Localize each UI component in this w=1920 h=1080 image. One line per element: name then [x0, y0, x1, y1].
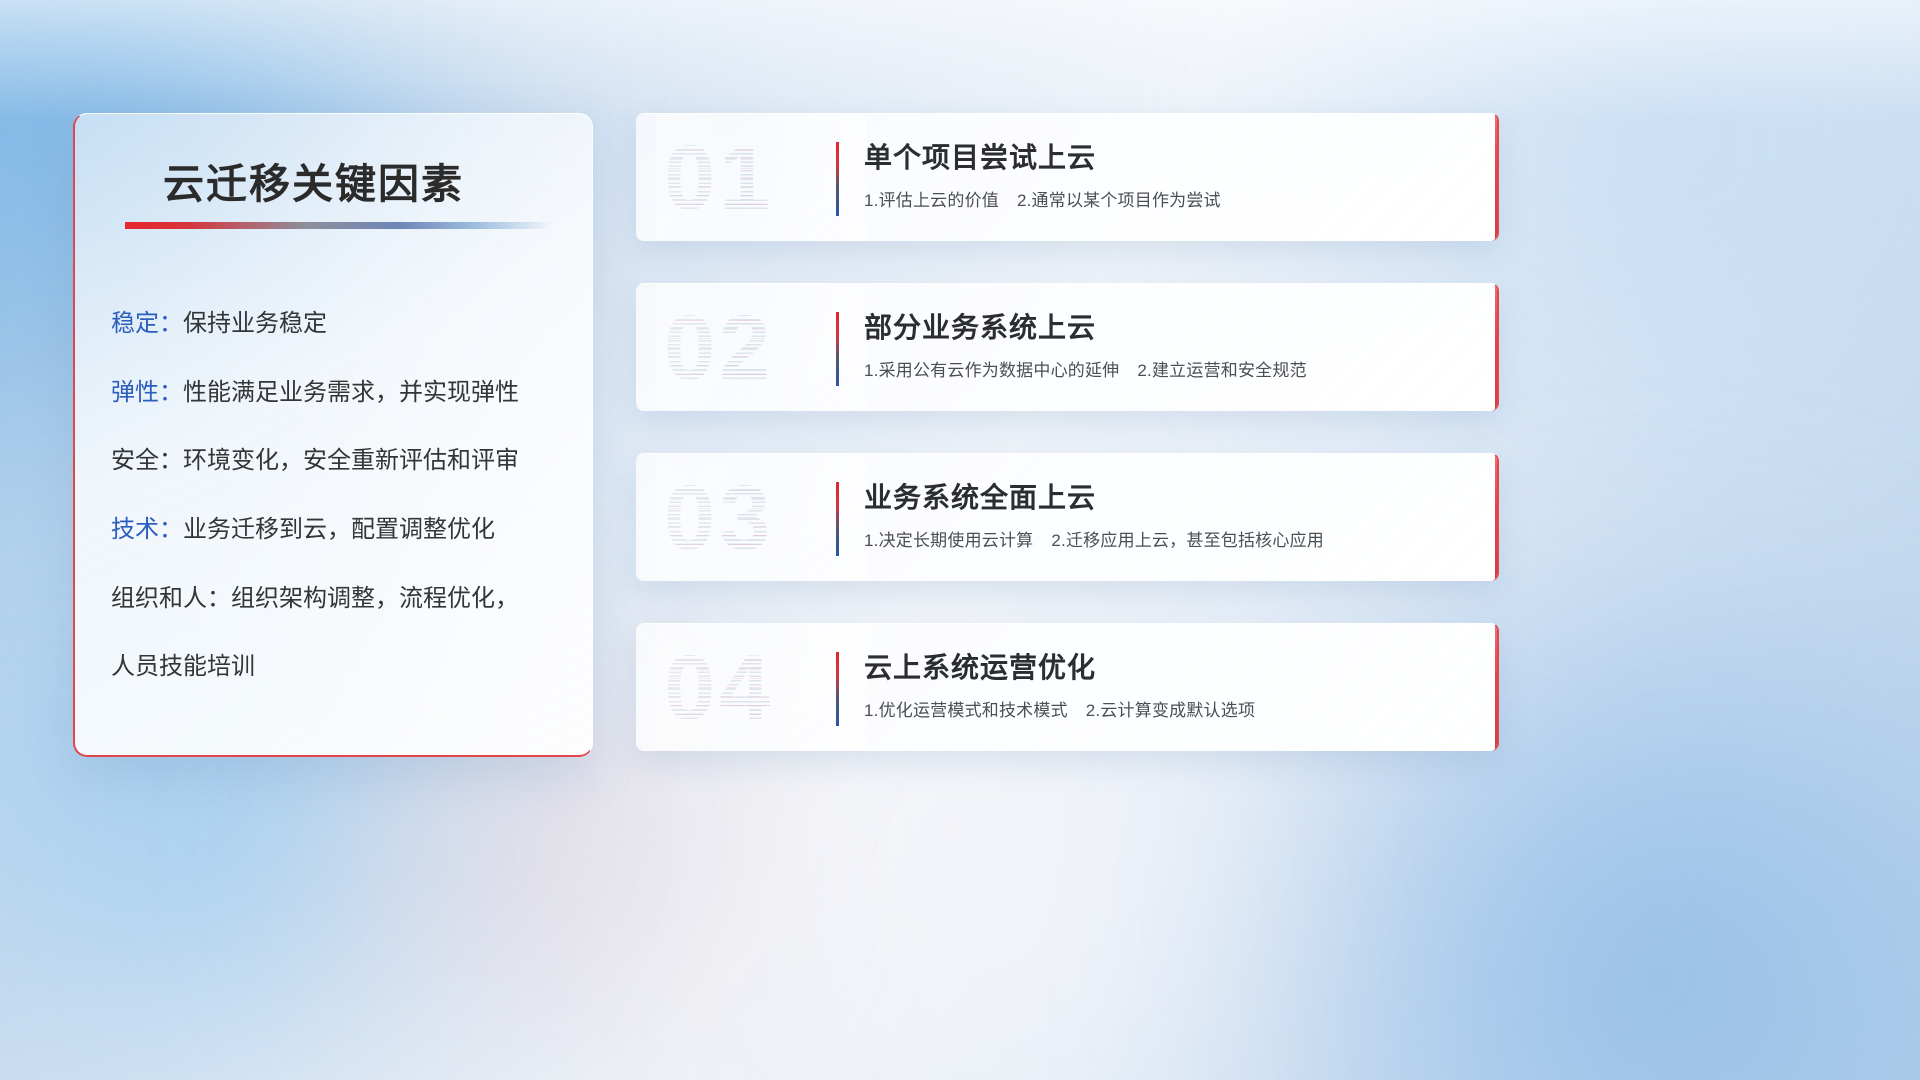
card-description-part-2: 2.通常以某个项目作为尝试	[1017, 191, 1221, 210]
card-description-part-1: 1.评估上云的价值	[864, 191, 999, 210]
list-item-text: 组织架构调整，流程优化，	[231, 585, 519, 612]
stage-card[interactable]: 04 04 云上系统运营优化 1.优化运营模式和技术模式2.云计算变成默认选项	[636, 623, 1499, 751]
stage-card[interactable]: 03 03 业务系统全面上云 1.决定长期使用云计算2.迁移应用上云，甚至包括核…	[636, 453, 1499, 581]
card-description-part-2: 2.迁移应用上云，甚至包括核心应用	[1051, 531, 1324, 550]
stage-number-tint: 01	[664, 132, 774, 224]
list-item: 组织和人：组织架构调整，流程优化，	[111, 583, 568, 615]
card-divider	[836, 312, 839, 386]
list-item: 技术：业务迁移到云，配置调整优化	[111, 514, 568, 546]
list-item-label: 组织和人：	[111, 585, 231, 612]
stage-cards: 01 01 单个项目尝试上云 1.评估上云的价值2.通常以某个项目作为尝试 02…	[636, 113, 1499, 751]
stage-number-tint: 04	[664, 642, 774, 734]
card-body: 单个项目尝试上云 1.评估上云的价值2.通常以某个项目作为尝试	[864, 140, 1473, 211]
card-description: 1.采用公有云作为数据中心的延伸2.建立运营和安全规范	[864, 356, 1473, 381]
card-description: 1.评估上云的价值2.通常以某个项目作为尝试	[864, 186, 1473, 211]
stage-card[interactable]: 01 01 单个项目尝试上云 1.评估上云的价值2.通常以某个项目作为尝试	[636, 113, 1499, 241]
list-item-label: 稳定：	[111, 310, 183, 337]
list-item: 安全：环境变化，安全重新评估和评审	[111, 445, 568, 477]
card-description-part-2: 2.建立运营和安全规范	[1137, 361, 1306, 380]
key-factors-panel: 云迁移关键因素 稳定：保持业务稳定 弹性：性能满足业务需求，并实现弹性 安全：环…	[73, 113, 593, 757]
card-divider	[836, 652, 839, 726]
title-underline-accent	[125, 222, 555, 229]
list-item: 弹性：性能满足业务需求，并实现弹性	[111, 377, 568, 409]
card-divider	[836, 482, 839, 556]
key-factors-list: 稳定：保持业务稳定 弹性：性能满足业务需求，并实现弹性 安全：环境变化，安全重新…	[111, 308, 568, 683]
list-item-text: 性能满足业务需求，并实现弹性	[183, 379, 519, 406]
card-description: 1.优化运营模式和技术模式2.云计算变成默认选项	[864, 696, 1473, 721]
list-item-continuation: 人员技能培训	[111, 651, 568, 683]
card-title: 单个项目尝试上云	[864, 140, 1473, 175]
card-title: 业务系统全面上云	[864, 480, 1473, 515]
card-title: 部分业务系统上云	[864, 310, 1473, 345]
list-item-label: 弹性：	[111, 379, 183, 406]
card-body: 部分业务系统上云 1.采用公有云作为数据中心的延伸2.建立运营和安全规范	[864, 310, 1473, 381]
card-body: 云上系统运营优化 1.优化运营模式和技术模式2.云计算变成默认选项	[864, 650, 1473, 721]
card-description: 1.决定长期使用云计算2.迁移应用上云，甚至包括核心应用	[864, 526, 1473, 551]
card-body: 业务系统全面上云 1.决定长期使用云计算2.迁移应用上云，甚至包括核心应用	[864, 480, 1473, 551]
stage-card[interactable]: 02 02 部分业务系统上云 1.采用公有云作为数据中心的延伸2.建立运营和安全…	[636, 283, 1499, 411]
page-title: 云迁移关键因素	[163, 150, 464, 210]
list-item-label: 技术：	[111, 516, 183, 543]
stage-number-tint: 02	[664, 302, 774, 394]
card-description-part-1: 1.采用公有云作为数据中心的延伸	[864, 361, 1119, 380]
stage-number-tint: 03	[664, 472, 774, 564]
card-description-part-1: 1.优化运营模式和技术模式	[864, 701, 1068, 720]
list-item-text: 人员技能培训	[111, 653, 255, 680]
list-item-text: 业务迁移到云，配置调整优化	[183, 516, 495, 543]
card-description-part-1: 1.决定长期使用云计算	[864, 531, 1033, 550]
card-description-part-2: 2.云计算变成默认选项	[1086, 701, 1255, 720]
list-item-text: 环境变化，安全重新评估和评审	[183, 447, 519, 474]
list-item: 稳定：保持业务稳定	[111, 308, 568, 340]
slide-stage: 云迁移关键因素 稳定：保持业务稳定 弹性：性能满足业务需求，并实现弹性 安全：环…	[0, 0, 1920, 1080]
list-item-label: 安全：	[111, 447, 183, 474]
card-divider	[836, 142, 839, 216]
list-item-text: 保持业务稳定	[183, 310, 327, 337]
card-title: 云上系统运营优化	[864, 650, 1473, 685]
